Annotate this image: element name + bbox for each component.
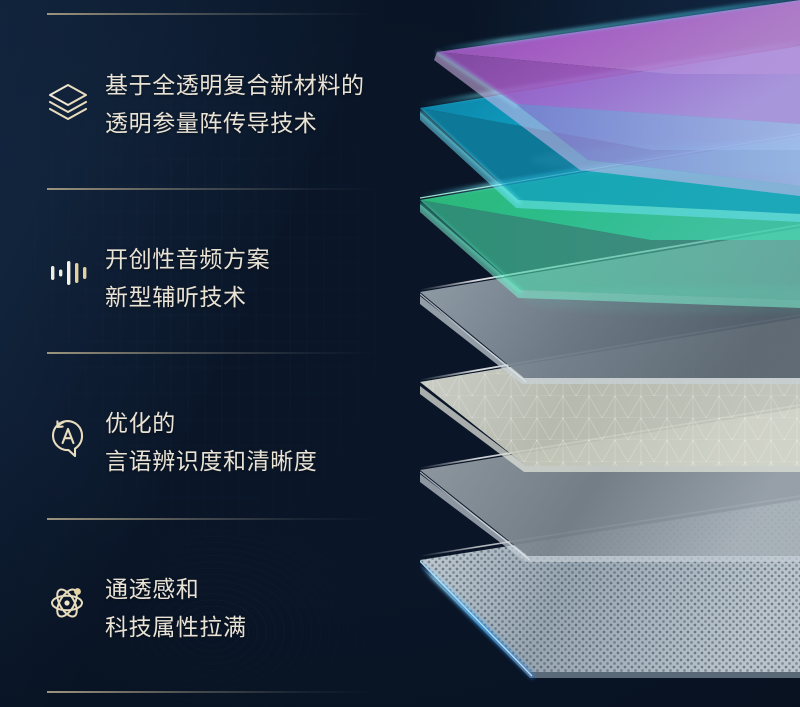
divider-3 — [47, 518, 377, 520]
feature-3-line-1: 优化的 — [105, 410, 176, 436]
feature-showcase-page: 基于全透明复合新材料的 透明参量阵传导技术 开创性音频方案 — [0, 0, 800, 707]
atom-molecule-icon — [44, 578, 92, 626]
stacked-transparent-material-layers — [420, 0, 800, 707]
divider-2 — [47, 352, 377, 354]
feature-1-line-2: 透明参量阵传导技术 — [105, 104, 425, 142]
feature-1-line-1: 基于全透明复合新材料的 — [105, 72, 365, 98]
audio-waveform-icon — [44, 248, 92, 296]
feature-item-speech-clarity[interactable]: 优化的 言语辨识度和清晰度 — [0, 404, 430, 514]
feature-list: 基于全透明复合新材料的 透明参量阵传导技术 开创性音频方案 — [0, 0, 430, 707]
feature-2-line-2: 新型辅听技术 — [105, 278, 425, 316]
feature-4-line-1: 通透感和 — [105, 576, 199, 602]
feature-4-line-2: 科技属性拉满 — [105, 608, 425, 646]
speech-bubble-a-icon — [44, 412, 92, 460]
divider-bottom — [47, 691, 377, 693]
feature-item-transparent-material[interactable]: 基于全透明复合新材料的 透明参量阵传导技术 — [0, 66, 430, 176]
feature-item-audio-solution[interactable]: 开创性音频方案 新型辅听技术 — [0, 240, 430, 350]
divider-top — [47, 13, 377, 15]
feature-item-tech-aesthetics[interactable]: 通透感和 科技属性拉满 — [0, 570, 430, 680]
layers-stack-icon — [44, 78, 92, 126]
feature-2-line-1: 开创性音频方案 — [105, 246, 270, 272]
feature-3-line-2: 言语辨识度和清晰度 — [105, 442, 425, 480]
divider-1 — [47, 188, 377, 190]
